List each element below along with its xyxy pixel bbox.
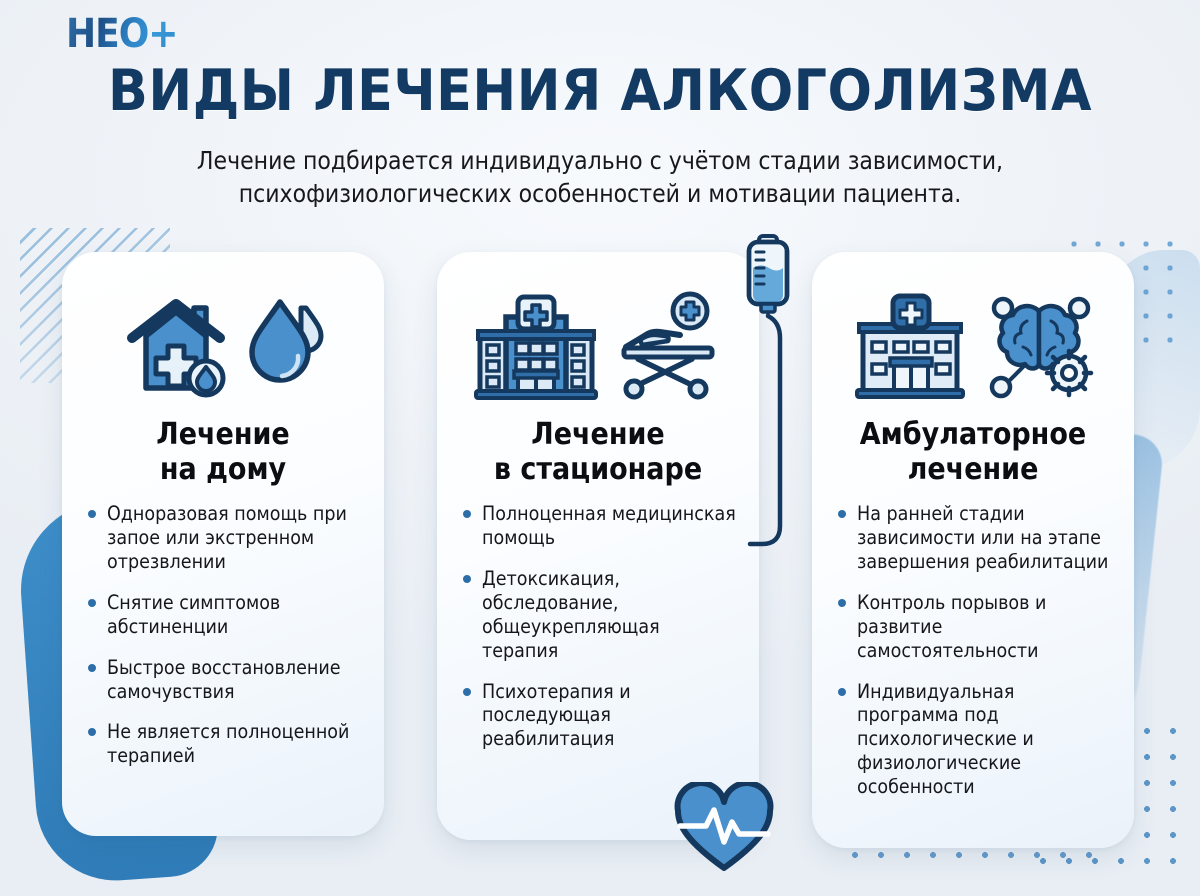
list-item: Полноценная медицинская помощь: [461, 502, 739, 550]
card-2-bullet-list: Полноценная медицинская помощь Детоксика…: [457, 502, 739, 769]
card-3-title: Амбулаторное лечение: [832, 418, 1114, 488]
infographic-canvas: НЕО+ ВИДЫ ЛЕЧЕНИЯ АЛКОГОЛИЗМА Лечение по…: [0, 0, 1200, 896]
treatment-cards: Лечение на дому Одноразовая помощь при з…: [0, 252, 1200, 860]
card-1-title: Лечение на дому: [82, 418, 364, 488]
card-2-icon-row: [457, 280, 739, 412]
list-item: На ранней стадии зависимости или на этап…: [836, 502, 1114, 574]
brain-gear-icon: [983, 291, 1095, 401]
card-2-title: Лечение в стационаре: [457, 418, 739, 488]
card-3-icon-row: [832, 280, 1114, 412]
list-item: Не является полноценной терапией: [86, 720, 364, 768]
card-1-icon-row: [82, 280, 364, 412]
logo-plus-icon: +: [148, 11, 177, 57]
card-1-bullet-list: Одноразовая помощь при запое или экстрен…: [82, 502, 364, 786]
list-item: Индивидуальная программа под психологиче…: [836, 680, 1114, 800]
list-item: Быстрое восстановление самочувствия: [86, 656, 364, 704]
hospital-bed-icon: [612, 291, 722, 401]
hospital-building-icon: [474, 291, 598, 401]
water-drop-icon: [246, 294, 326, 398]
card-home-treatment[interactable]: Лечение на дому Одноразовая помощь при з…: [62, 252, 384, 836]
list-item: Детоксикация, обследование, общеукрепляю…: [461, 567, 739, 663]
heart-pulse-icon: [672, 782, 776, 874]
page-title: ВИДЫ ЛЕЧЕНИЯ АЛКОГОЛИЗМА: [0, 58, 1200, 124]
list-item: Снятие симптомов абстиненции: [86, 591, 364, 639]
card-3-bullet-list: На ранней стадии зависимости или на этап…: [832, 502, 1114, 817]
card-inpatient-treatment[interactable]: Лечение в стационаре Полноценная медицин…: [437, 252, 759, 840]
iv-drip-icon: [735, 228, 801, 558]
house-medical-cross-icon: [120, 292, 232, 400]
page-subtitle: Лечение подбирается индивидуально с учёт…: [90, 144, 1110, 211]
list-item: Психотерапия и последующая реабилитация: [461, 680, 739, 752]
neo-plus-logo: НЕО+: [66, 14, 177, 54]
logo-text: НЕО: [66, 11, 148, 57]
list-item: Одноразовая помощь при запое или экстрен…: [86, 502, 364, 574]
card-outpatient-treatment[interactable]: Амбулаторное лечение На ранней стадии за…: [812, 252, 1134, 848]
list-item: Контроль порывов и развитие самостоятель…: [836, 591, 1114, 663]
clinic-building-icon: [851, 292, 969, 400]
